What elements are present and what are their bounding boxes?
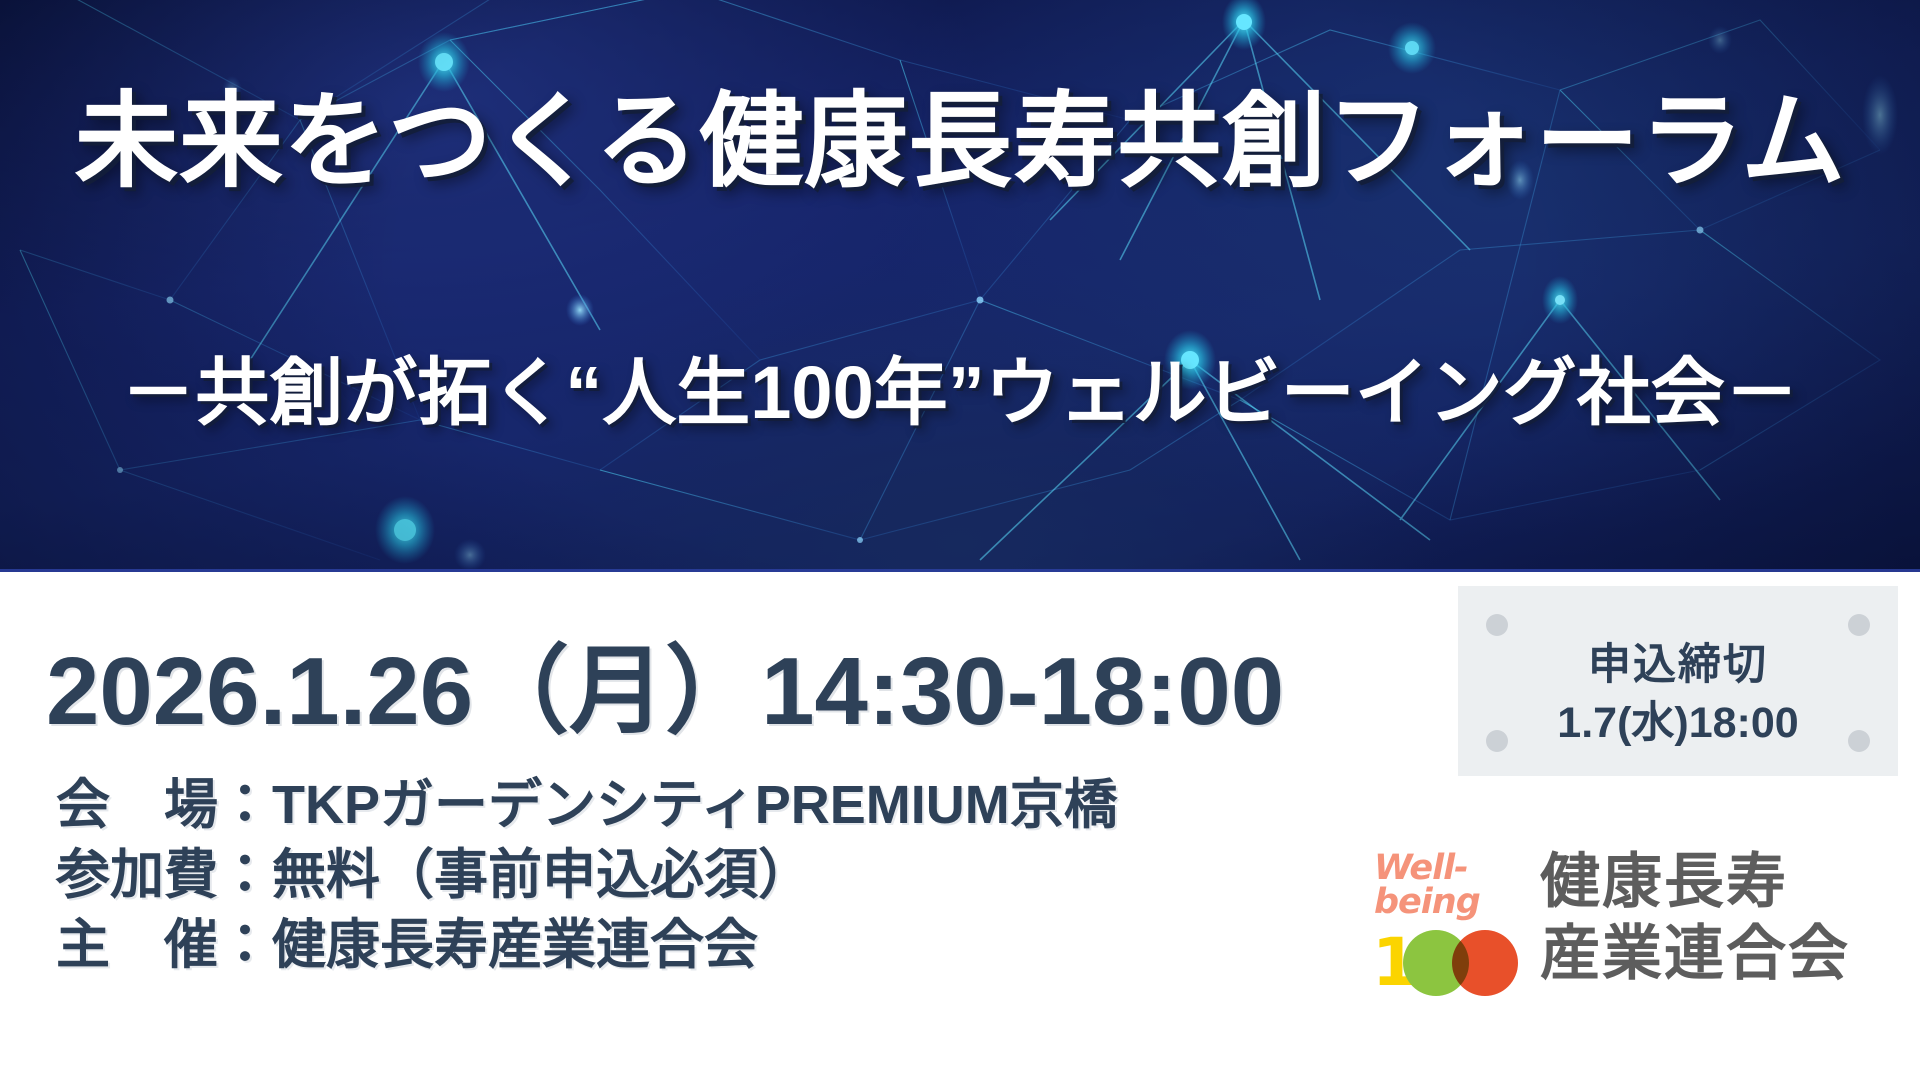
event-datetime: 2026.1.26（月）14:30-18:00 [46,644,1284,740]
wellbeing-100-mark: Well- being 1 [1372,852,1522,1002]
event-banner: 未来をつくる健康長寿共創フォーラム －共創が拓く“人生100年”ウェルビーイング… [0,0,1920,1080]
hundred-mark: 1 [1372,926,1524,1000]
org-name-line-2: 産業連合会 [1540,918,1906,990]
event-details-list: 会 場：TKPガーデンシティPREMIUM京橋 参加費：無料（事前申込必須） 主… [56,770,1118,981]
organization-logo: Well- being 1 健康長寿 産業連合会 [1372,844,1906,1024]
organization-name: 健康長寿 産業連合会 [1540,846,1906,990]
orange-circle-icon [1452,930,1518,996]
detail-organizer: 主 催：健康長寿産業連合会 [56,910,1118,980]
hero-title-block: 未来をつくる健康長寿共創フォーラム －共創が拓く“人生100年”ウェルビーイング… [0,0,1920,572]
detail-fee: 参加費：無料（事前申込必須） [56,840,1118,910]
wellbeing-line-1: Well- [1374,852,1524,886]
application-deadline-box: 申込締切 1.7(水)18:00 [1458,586,1898,776]
wellbeing-line-2: being [1374,886,1524,920]
main-title: 未来をつくる健康長寿共創フォーラム [0,86,1920,198]
org-name-line-1: 健康長寿 [1540,846,1906,918]
detail-venue: 会 場：TKPガーデンシティPREMIUM京橋 [56,770,1118,840]
deadline-label: 申込締切 [1458,630,1898,692]
info-section: 2026.1.26（月）14:30-18:00 会 場：TKPガーデンシティPR… [0,572,1920,1080]
wellbeing-wordmark: Well- being [1374,852,1524,919]
hero-section: 未来をつくる健康長寿共創フォーラム －共創が拓く“人生100年”ウェルビーイング… [0,0,1920,572]
deadline-value: 1.7(水)18:00 [1458,688,1898,750]
sub-title: －共創が拓く“人生100年”ウェルビーイング社会－ [0,352,1920,433]
